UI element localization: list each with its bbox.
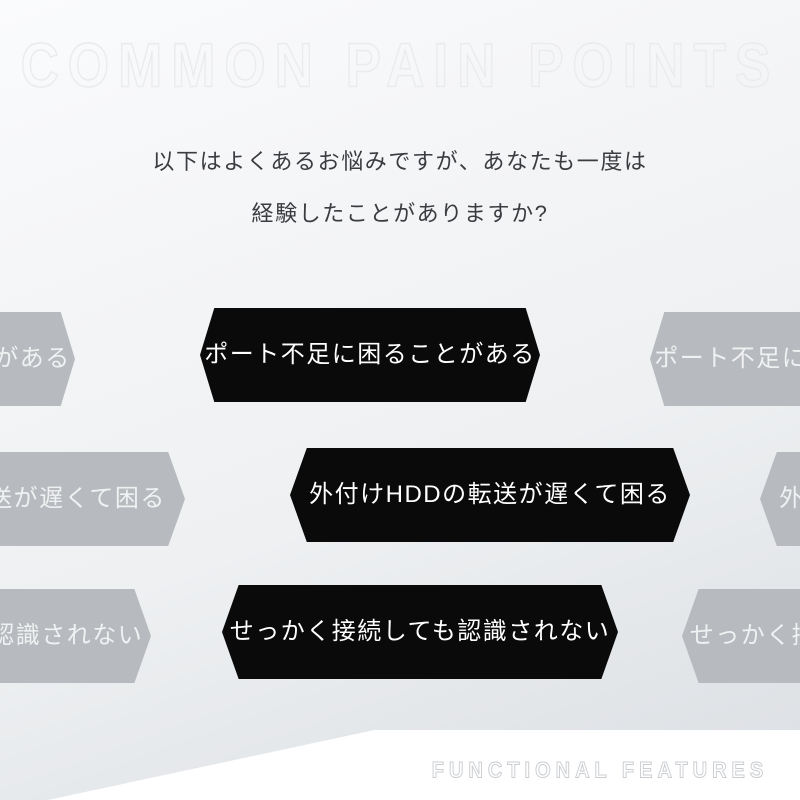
pain-point-row: 外付けHDDの転送が遅くて困る 外付けHDDの転送が遅くて困る 外付けHDDの転… [0,440,800,580]
subtitle-line-1: 以下はよくあるお悩みですが、あなたも一度は [0,136,800,188]
pain-point-ghost-left: せっかく接続しても認識されない [0,589,151,683]
pain-point-ghost-left: ポート不足に困ることがある [0,312,75,406]
pain-point-row: せっかく接続しても認識されない せっかく接続しても認識されない せっかく接続して… [0,577,800,717]
pain-point-ghost-right-label: 外付けHDDの転送が遅くて困る [779,487,800,511]
pain-point-ghost-right: 外付けHDDの転送が遅くて困る [760,452,800,546]
pain-point-row: ポート不足に困ることがある ポート不足に困ることがある ポート不足に困ることがあ… [0,300,800,440]
pain-point-ghost-right: せっかく接続しても認識されない [682,589,800,683]
pain-points-section: COMMON PAIN POINTS 以下はよくあるお悩みですが、あなたも一度は… [0,0,800,800]
section-subtitle: 以下はよくあるお悩みですが、あなたも一度は 経験したことがありますか? [0,136,800,240]
pain-point-label: 外付けHDDの転送が遅くて困る [309,483,671,507]
pain-point-ghost-left-label: 外付けHDDの転送が遅くて困る [0,487,166,511]
pain-point-label: ポート不足に困ることがある [204,343,536,367]
subtitle-line-2: 経験したことがありますか? [0,188,800,240]
pain-point-ghost-right-label: ポート不足に困ることがある [654,347,800,371]
section-headline: COMMON PAIN POINTS [0,30,800,102]
footer-section-label: FUNCTIONAL FEATURES [400,759,800,784]
pain-point-ghost-left: 外付けHDDの転送が遅くて困る [0,452,185,546]
pain-point-ghost-right: ポート不足に困ることがある [650,312,800,406]
pain-point-label: せっかく接続しても認識されない [230,620,611,644]
pain-point-banner: ポート不足に困ることがある [200,308,540,402]
pain-point-ghost-left-label: ポート不足に困ることがある [0,347,71,371]
pain-point-ghost-left-label: せっかく接続しても認識されない [0,624,143,648]
pain-point-banner: せっかく接続しても認識されない [222,585,618,679]
pain-point-banner: 外付けHDDの転送が遅くて困る [290,448,690,542]
pain-point-ghost-right-label: せっかく接続しても認識されない [690,624,800,648]
